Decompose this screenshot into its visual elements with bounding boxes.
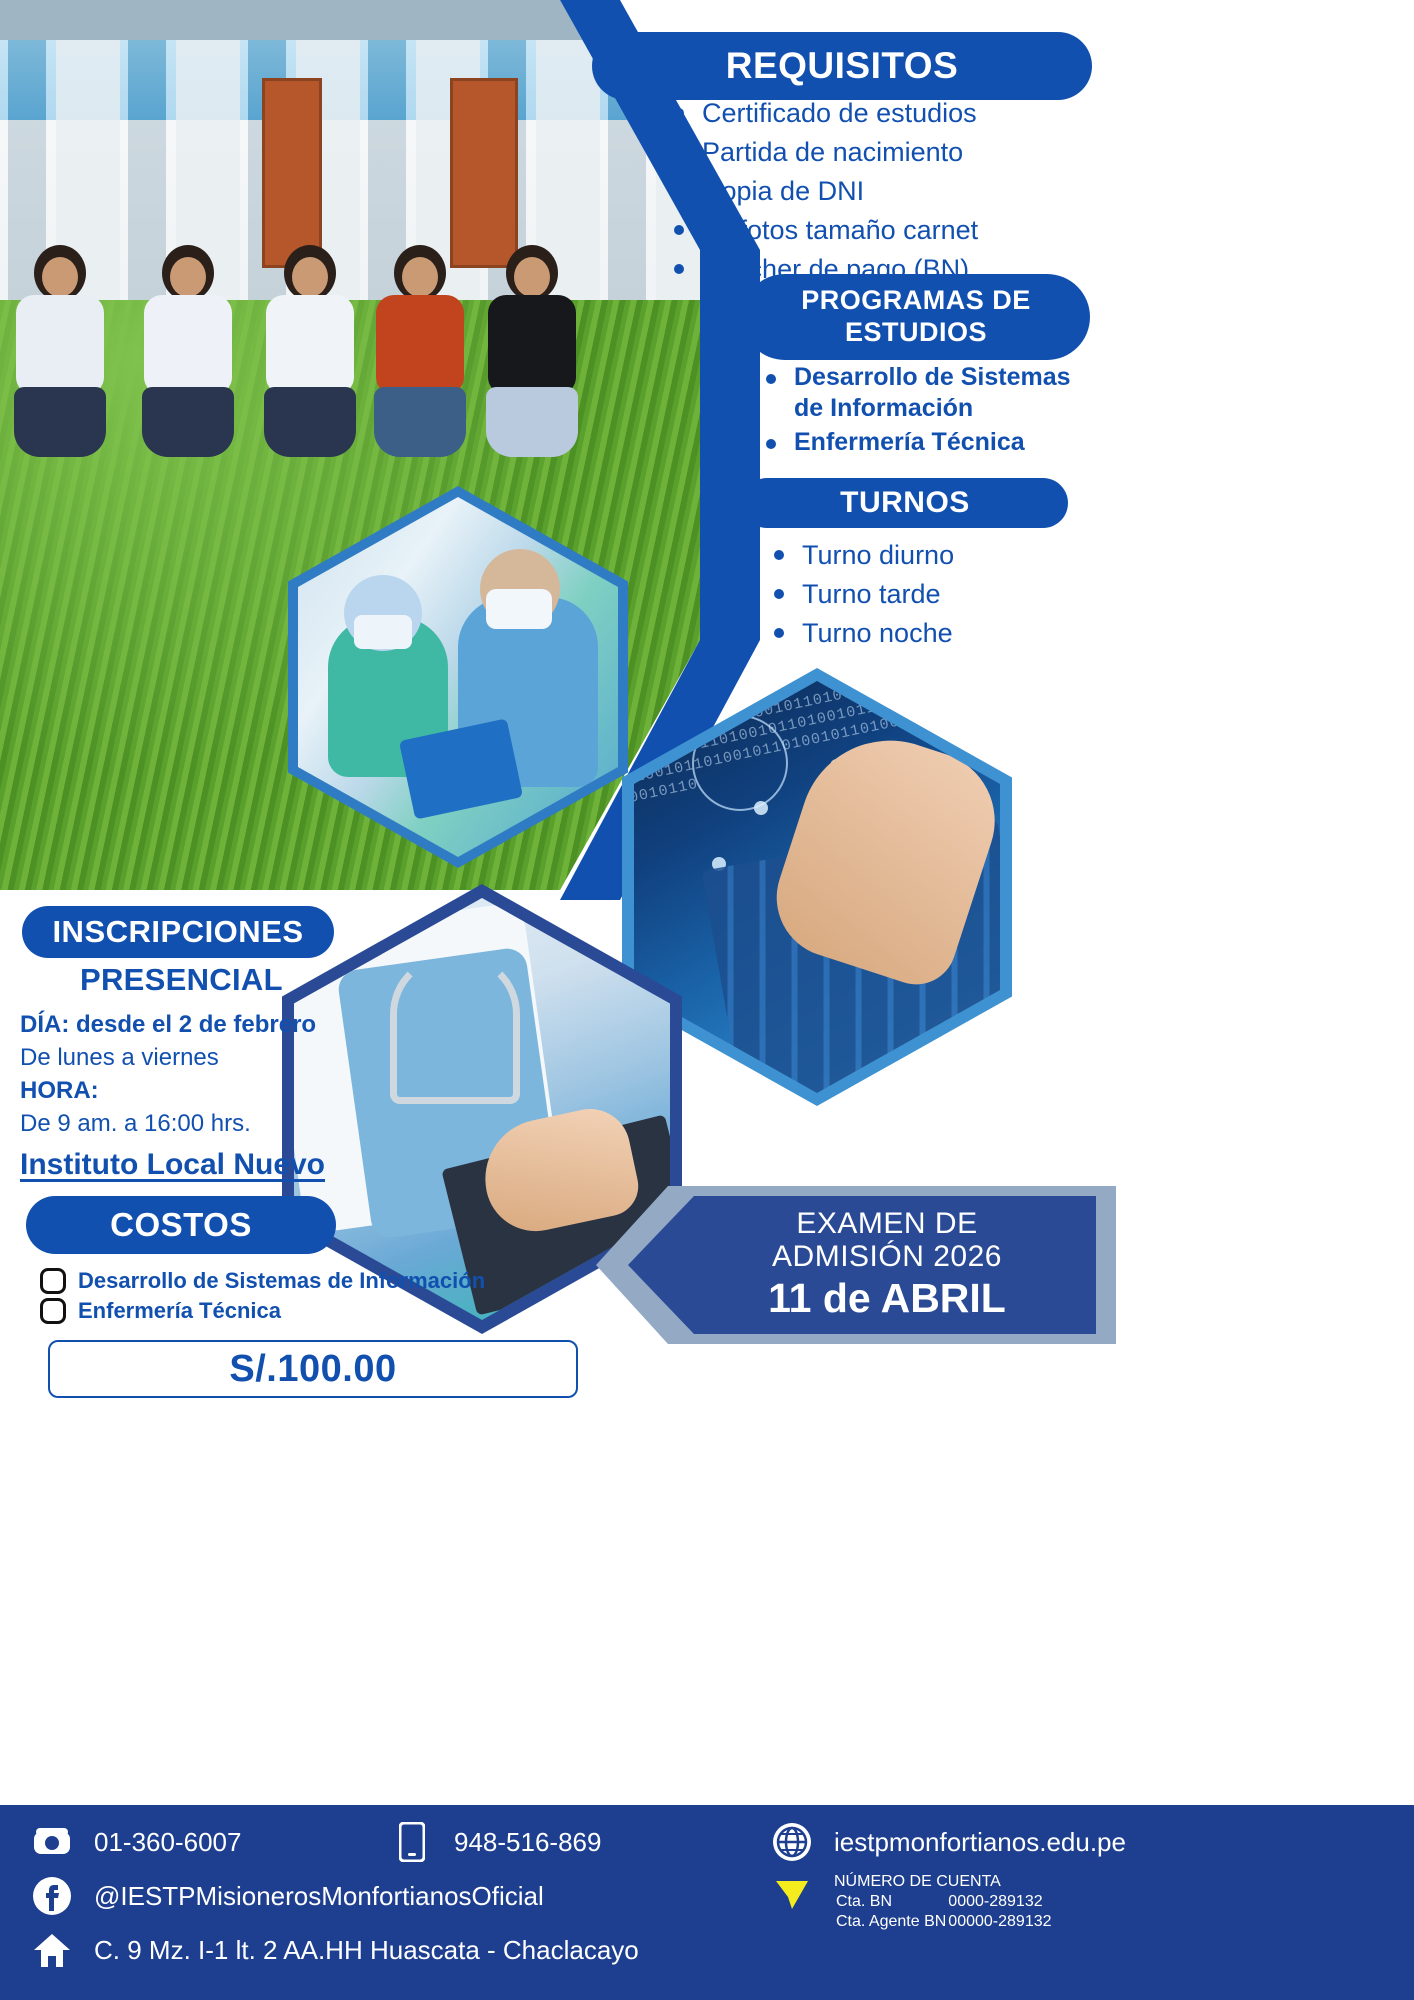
checkbox-icon[interactable] — [40, 1268, 66, 1294]
send-arrow-icon — [770, 1873, 814, 1917]
facebook-handle: @IESTPMisionerosMonfortianosOficial — [94, 1881, 544, 1912]
inscripciones-local: Instituto Local Nuevo — [20, 1148, 325, 1182]
facebook-icon — [30, 1874, 74, 1918]
classroom-door — [262, 78, 322, 268]
checkbox-icon[interactable] — [40, 1298, 66, 1324]
website-row[interactable]: iestpmonfortianos.edu.pe — [770, 1815, 1410, 1869]
requisitos-heading: REQUISITOS — [592, 32, 1092, 100]
student-figure — [140, 245, 236, 460]
account-title: NÚMERO DE CUENTA — [834, 1873, 1054, 1891]
mobile-phone-group[interactable]: 948-516-869 — [390, 1815, 601, 1869]
face-mask — [486, 589, 552, 629]
price-box: S/.100.00 — [48, 1340, 578, 1398]
admission-poster: 0100101101010110010110100101101001011010… — [0, 0, 1414, 2000]
inscripciones-weekdays: De lunes a viernes — [20, 1041, 340, 1074]
face-mask — [354, 615, 412, 649]
address-text: C. 9 Mz. I-1 lt. 2 AA.HH Huascata - Chac… — [94, 1935, 639, 1966]
list-item: Turno diurno — [760, 538, 1100, 573]
costos-options: Desarrollo de Sistemas de Información En… — [40, 1268, 560, 1328]
programas-heading-line2: ESTUDIOS — [801, 317, 1031, 349]
programas-heading-line1: PROGRAMAS DE — [801, 285, 1031, 317]
examen-line1: EXAMEN DE — [796, 1207, 977, 1240]
dia-value: desde el 2 de febrero — [76, 1011, 316, 1038]
facebook-row[interactable]: @IESTPMisionerosMonfortianosOficial — [30, 1869, 730, 1923]
account-label: Cta. Agente BN — [836, 1913, 946, 1931]
student-figure — [262, 245, 358, 460]
turnos-list: Turno diurno Turno tarde Turno noche — [760, 538, 1100, 655]
node-dot — [754, 801, 768, 815]
list-item: Desarrollo de Sistemas de Información — [752, 362, 1092, 423]
dia-label: DÍA: — [20, 1011, 69, 1038]
student-figure — [12, 245, 108, 460]
globe-icon — [770, 1820, 814, 1864]
list-item: Turno tarde — [760, 577, 1100, 612]
telephone-icon — [30, 1820, 74, 1864]
hora-label-row: HORA: — [20, 1074, 340, 1107]
hora-value: De 9 am. a 16:00 hrs. — [20, 1107, 340, 1140]
turnos-heading: TURNOS — [742, 478, 1068, 528]
table-row: Cta. BN 0000-289132 — [836, 1893, 1052, 1911]
list-item: 02 fotos tamaño carnet — [660, 213, 1100, 248]
footer-left-column: 01-360-6007 @IESTPMisionerosMonfortianos… — [30, 1815, 730, 1977]
list-item: Copia de DNI — [660, 174, 1100, 209]
landline-number: 01-360-6007 — [94, 1827, 241, 1858]
classroom-door — [450, 78, 518, 268]
costo-option-label: Desarrollo de Sistemas de Información — [78, 1268, 485, 1294]
account-number: 0000-289132 — [948, 1893, 1051, 1911]
list-item: Turno noche — [760, 616, 1100, 651]
mobile-number: 948-516-869 — [454, 1827, 601, 1858]
home-icon — [30, 1928, 74, 1972]
examen-date: 11 de ABRIL — [768, 1275, 1006, 1322]
mobile-phone-icon — [390, 1820, 434, 1864]
student-figure — [484, 245, 580, 460]
address-row: C. 9 Mz. I-1 lt. 2 AA.HH Huascata - Chac… — [30, 1923, 730, 1977]
footer-right-column: iestpmonfortianos.edu.pe NÚMERO DE CUENT… — [770, 1815, 1410, 1933]
inscripciones-heading: INSCRIPCIONES — [22, 906, 334, 958]
account-label: Cta. BN — [836, 1893, 946, 1911]
costo-option-row[interactable]: Desarrollo de Sistemas de Información — [40, 1268, 560, 1294]
programas-list: Desarrollo de Sistemas de Información En… — [752, 362, 1092, 462]
inscripciones-details: DÍA: desde el 2 de febrero De lunes a vi… — [20, 1008, 340, 1140]
list-item: Partida de nacimiento — [660, 135, 1100, 170]
programas-heading: PROGRAMAS DE ESTUDIOS — [742, 274, 1090, 360]
accounts-table: Cta. BN 0000-289132 Cta. Agente BN 00000… — [834, 1891, 1054, 1933]
costos-heading: COSTOS — [26, 1196, 336, 1254]
price-value: S/.100.00 — [229, 1348, 396, 1391]
inscripciones-day-row: DÍA: desde el 2 de febrero — [20, 1008, 340, 1041]
bank-account-block: NÚMERO DE CUENTA Cta. BN 0000-289132 Cta… — [834, 1873, 1054, 1933]
list-item: Enfermería Técnica — [752, 427, 1092, 458]
stethoscope — [390, 954, 520, 1104]
list-item: Certificado de estudios — [660, 96, 1100, 131]
inscripciones-modality: PRESENCIAL — [80, 962, 283, 998]
costo-option-row[interactable]: Enfermería Técnica — [40, 1298, 560, 1324]
examen-badge: EXAMEN DE ADMISIÓN 2026 11 de ABRIL — [628, 1196, 1096, 1334]
website-url: iestpmonfortianos.edu.pe — [834, 1827, 1126, 1858]
contact-footer: 01-360-6007 @IESTPMisionerosMonfortianos… — [0, 1805, 1414, 2000]
hora-label: HORA: — [20, 1077, 99, 1104]
table-row: Cta. Agente BN 00000-289132 — [836, 1913, 1052, 1931]
landline-row[interactable]: 01-360-6007 — [30, 1815, 730, 1869]
bank-account-row: NÚMERO DE CUENTA Cta. BN 0000-289132 Cta… — [770, 1873, 1410, 1933]
mobile-row[interactable]: 948-516-869 — [390, 1815, 601, 1869]
requisitos-list: Certificado de estudios Partida de nacim… — [660, 96, 1100, 291]
account-number: 00000-289132 — [948, 1913, 1051, 1931]
student-figure — [372, 245, 468, 460]
examen-line2: ADMISIÓN 2026 — [772, 1240, 1002, 1273]
costo-option-label: Enfermería Técnica — [78, 1298, 281, 1324]
